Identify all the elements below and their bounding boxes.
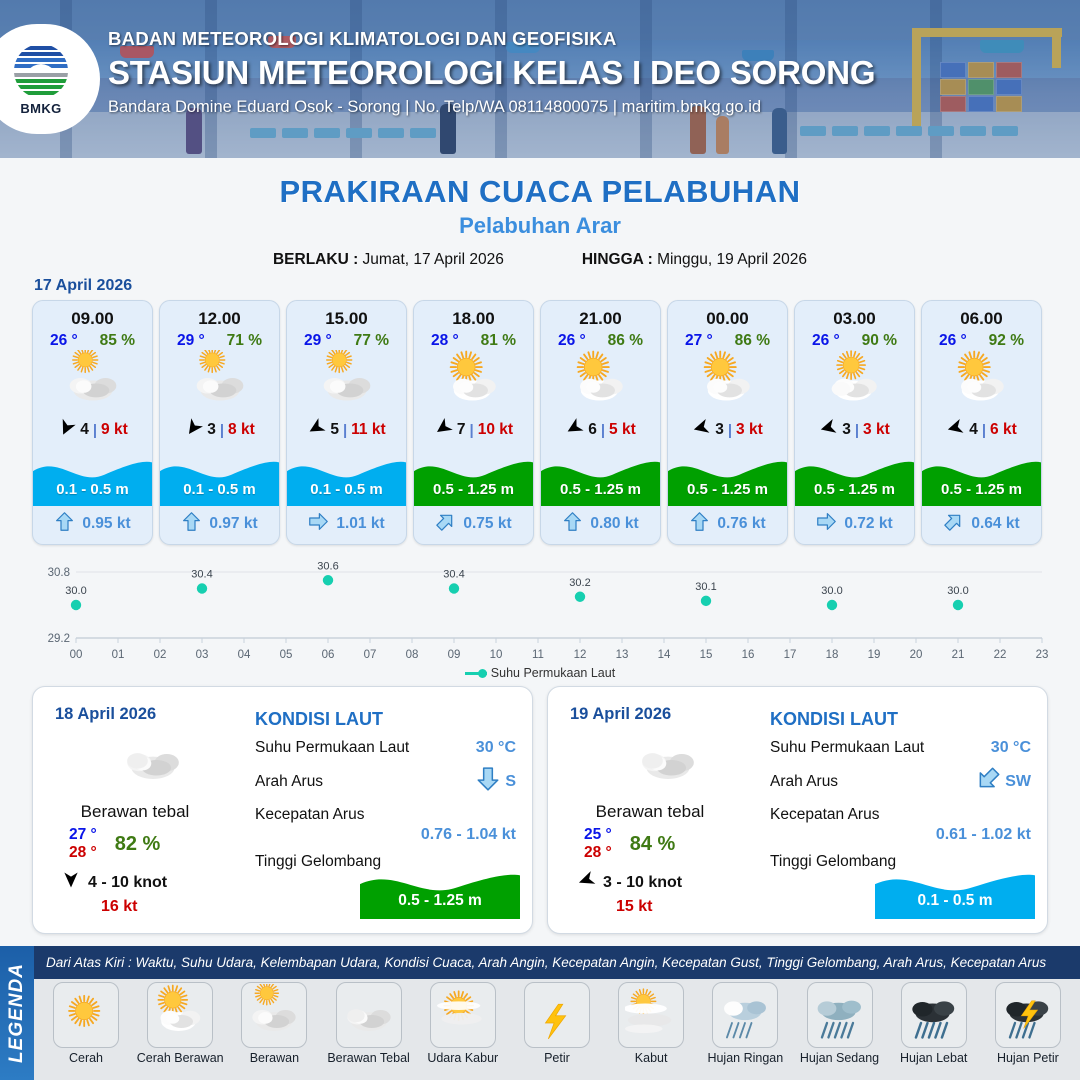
card-values: 27 ° 86 % [668, 332, 787, 350]
card-temperature: 27 ° [685, 332, 713, 350]
panel-current-speed-row: Kecepatan Arus [255, 806, 516, 824]
card-humidity: 77 % [354, 332, 389, 350]
forecast-card-row: 09.00 26 ° 85 % 4 | 9 kt 0.1 - 0.5 m 0.9… [32, 300, 1048, 545]
card-wave-height: 0.1 - 0.5 m [33, 481, 152, 498]
card-wave-height: 0.5 - 1.25 m [795, 481, 914, 498]
card-wave-band: 0.5 - 1.25 m [795, 454, 914, 506]
hingga-group: HINGGA : Minggu, 19 April 2026 [582, 251, 807, 269]
card-values: 28 ° 81 % [414, 332, 533, 350]
svg-text:09: 09 [448, 649, 461, 661]
legend-item-label: Hujan Lebat [900, 1051, 967, 1065]
sst-legend-line-icon [465, 672, 487, 675]
panel-current-dir-group: S [475, 766, 516, 797]
svg-text:30.0: 30.0 [947, 585, 968, 597]
current-direction-arrow-icon [435, 511, 456, 537]
svg-text:00: 00 [70, 649, 83, 661]
card-separator: | [728, 422, 732, 439]
panel-right: KONDISI LAUT Suhu Permukaan Laut 30 °C A… [766, 687, 1047, 933]
svg-text:05: 05 [280, 649, 293, 661]
card-separator: | [601, 422, 605, 439]
card-wave-band: 0.5 - 1.25 m [414, 454, 533, 506]
card-values: 26 ° 85 % [33, 332, 152, 350]
card-time: 12.00 [160, 309, 279, 329]
forecast-card: 18.00 28 ° 81 % 7 | 10 kt 0.5 - 1.25 m 0… [413, 300, 534, 545]
card-current-row: 0.80 kt [541, 508, 660, 540]
card-time: 15.00 [287, 309, 406, 329]
legend-note-bar: Dari Atas Kiri : Waktu, Suhu Udara, Kele… [34, 946, 1080, 979]
card-gust: 10 kt [478, 421, 513, 439]
station-contact: Bandara Domine Eduard Osok - Sorong | No… [108, 98, 875, 117]
card-wind-speed: 7 [457, 421, 466, 439]
card-values: 29 ° 71 % [160, 332, 279, 350]
legend-udara-kabur-icon [430, 982, 496, 1048]
card-humidity: 86 % [735, 332, 770, 350]
panel-wind-range: 3 - 10 knot [603, 874, 682, 892]
card-temperature: 28 ° [431, 332, 459, 350]
card-gust: 8 kt [228, 421, 255, 439]
forecast-card: 00.00 27 ° 86 % 3 | 3 kt 0.5 - 1.25 m 0.… [667, 300, 788, 545]
panel-current-dir-value: S [505, 773, 516, 791]
card-values: 26 ° 90 % [795, 332, 914, 350]
legend-hujan-lebat-icon [901, 982, 967, 1048]
panel-left: 19 April 2026 Berawan tebal 25 ° 28 ° 84… [548, 687, 766, 933]
berlaku-label: BERLAKU : [273, 251, 358, 268]
panel-temp-col: 27 ° 28 ° [69, 826, 97, 862]
card-humidity: 85 % [100, 332, 135, 350]
sst-chart-legend: Suhu Permukaan Laut [0, 666, 1080, 680]
panel-sst-value: 30 °C [991, 739, 1031, 757]
card-temperature: 26 ° [812, 332, 840, 350]
panel-sst-row: Suhu Permukaan Laut 30 °C [255, 739, 516, 757]
card-humidity: 86 % [608, 332, 643, 350]
card-wind-row: 3 | 8 kt [160, 419, 279, 441]
legend-hujan-sedang-icon [807, 982, 873, 1048]
panel-wave-value: 0.1 - 0.5 m [875, 892, 1035, 910]
card-wind-row: 5 | 11 kt [287, 419, 406, 441]
forecast-card: 21.00 26 ° 86 % 6 | 5 kt 0.5 - 1.25 m 0.… [540, 300, 661, 545]
hingga-label: HINGGA : [582, 251, 653, 268]
card-temperature: 26 ° [50, 332, 78, 350]
svg-text:30.6: 30.6 [317, 560, 338, 572]
legend-item-label: Kabut [635, 1051, 668, 1065]
panel-wind-row: 4 - 10 knot [55, 870, 251, 895]
wind-direction-arrow-icon [184, 418, 203, 442]
card-weather-cerah-berawan-icon [668, 352, 787, 414]
page-subtitle: Pelabuhan Arar [0, 213, 1080, 239]
card-time: 00.00 [668, 309, 787, 329]
card-current-speed: 0.80 kt [590, 515, 638, 533]
panel-weather-berawan-tebal-icon [570, 728, 766, 792]
card-wave-band: 0.5 - 1.25 m [668, 454, 787, 506]
card-current-speed: 0.95 kt [82, 515, 130, 533]
svg-text:06: 06 [322, 649, 335, 661]
legend-cerah-icon [53, 982, 119, 1048]
card-wind-row: 4 | 9 kt [33, 419, 152, 441]
current-direction-arrow-icon [562, 511, 583, 537]
card-weather-cerah-berawan-icon [541, 352, 660, 414]
wind-direction-arrow-icon [61, 870, 81, 895]
card-humidity: 92 % [989, 332, 1024, 350]
svg-text:30.1: 30.1 [695, 581, 716, 593]
svg-text:14: 14 [658, 649, 671, 661]
card-values: 26 ° 92 % [922, 332, 1041, 350]
legend-petir-icon [524, 982, 590, 1048]
title-block: PRAKIRAAN CUACA PELABUHAN Pelabuhan Arar… [0, 174, 1080, 269]
svg-text:29.2: 29.2 [48, 633, 70, 645]
panel-current-dir-value: SW [1005, 773, 1031, 791]
panel-temp-min: 25 ° [584, 826, 612, 844]
wind-direction-arrow-icon [576, 870, 596, 895]
sst-chart: 30.829.200010203040506070809101112131415… [28, 558, 1052, 683]
svg-text:20: 20 [910, 649, 923, 661]
card-time: 18.00 [414, 309, 533, 329]
legend-item: Hujan Ringan [699, 982, 791, 1078]
svg-text:30.4: 30.4 [443, 569, 464, 581]
panel-sst-label: Suhu Permukaan Laut [255, 739, 409, 757]
legend-item: Petir [511, 982, 603, 1078]
panel-condition: Berawan tebal [55, 802, 215, 822]
svg-text:01: 01 [112, 649, 125, 661]
card-humidity: 71 % [227, 332, 262, 350]
panel-current-dir-group: SW [975, 766, 1031, 797]
legend-item: Cerah Berawan [134, 982, 226, 1078]
svg-text:19: 19 [868, 649, 881, 661]
legend-item-label: Hujan Sedang [800, 1051, 879, 1065]
card-weather-cerah-berawan-icon [414, 352, 533, 414]
legend-item-label: Udara Kabur [427, 1051, 498, 1065]
legend-item-label: Hujan Ringan [707, 1051, 783, 1065]
legend-cerah-berawan-icon [147, 982, 213, 1048]
svg-text:02: 02 [154, 649, 167, 661]
card-weather-berawan-icon [160, 352, 279, 414]
card-wind-row: 3 | 3 kt [795, 419, 914, 441]
bmkg-logo-text: BMKG [20, 101, 61, 116]
panel-wave-band: 0.1 - 0.5 m [875, 863, 1035, 919]
svg-text:30.8: 30.8 [48, 567, 70, 579]
card-humidity: 81 % [481, 332, 516, 350]
legend-side-label: LEGENDA [6, 963, 28, 1063]
current-direction-arrow-icon [54, 511, 75, 537]
card-wave-height: 0.5 - 1.25 m [541, 481, 660, 498]
panel-temp-max: 28 ° [69, 844, 97, 862]
card-wave-height: 0.1 - 0.5 m [287, 481, 406, 498]
card-humidity: 90 % [862, 332, 897, 350]
svg-text:12: 12 [574, 649, 587, 661]
card-gust: 11 kt [351, 421, 385, 439]
card-current-speed: 0.75 kt [463, 515, 511, 533]
card-time: 09.00 [33, 309, 152, 329]
svg-text:11: 11 [532, 649, 544, 661]
forecast-card: 03.00 26 ° 90 % 3 | 3 kt 0.5 - 1.25 m 0.… [794, 300, 915, 545]
bmkg-logo-mark-icon [9, 43, 73, 99]
panel-temp-row: 27 ° 28 ° 82 % [55, 826, 251, 862]
card-gust: 3 kt [863, 421, 890, 439]
svg-text:22: 22 [994, 649, 1007, 661]
card-wind-row: 3 | 3 kt [668, 419, 787, 441]
card-wind-speed: 4 [80, 421, 89, 439]
card-wave-height: 0.1 - 0.5 m [160, 481, 279, 498]
card-time: 03.00 [795, 309, 914, 329]
svg-text:13: 13 [616, 649, 629, 661]
svg-text:18: 18 [826, 649, 839, 661]
legend-item: Cerah [40, 982, 132, 1078]
legend-item-label: Cerah [69, 1051, 103, 1065]
panel-wave-band: 0.5 - 1.25 m [360, 863, 520, 919]
berlaku-group: BERLAKU : Jumat, 17 April 2026 [273, 251, 504, 269]
card-separator: | [982, 422, 986, 439]
daily-panels-row: 18 April 2026 Berawan tebal 27 ° 28 ° 82… [32, 686, 1048, 934]
card-wave-band: 0.1 - 0.5 m [33, 454, 152, 506]
card-current-speed: 0.97 kt [209, 515, 257, 533]
svg-text:03: 03 [196, 649, 209, 661]
legend-side-tab: LEGENDA [0, 946, 34, 1080]
svg-text:04: 04 [238, 649, 251, 661]
forecast-card: 12.00 29 ° 71 % 3 | 8 kt 0.1 - 0.5 m 0.9… [159, 300, 280, 545]
card-wind-speed: 3 [207, 421, 216, 439]
card-wind-speed: 3 [842, 421, 851, 439]
panel-current-dir-row: Arah Arus S [255, 766, 516, 797]
card-temperature: 26 ° [939, 332, 967, 350]
card-gust: 5 kt [609, 421, 636, 439]
wind-direction-arrow-icon [307, 418, 326, 442]
card-time: 06.00 [922, 309, 1041, 329]
legend-berawan-icon [241, 982, 307, 1048]
legend-item: Hujan Lebat [888, 982, 980, 1078]
forecast-card: 09.00 26 ° 85 % 4 | 9 kt 0.1 - 0.5 m 0.9… [32, 300, 153, 545]
panel-sea-title: KONDISI LAUT [770, 709, 1031, 730]
panel-humidity: 82 % [115, 833, 161, 856]
panel-current-dir-label: Arah Arus [255, 773, 323, 791]
daily-forecast-panel: 18 April 2026 Berawan tebal 27 ° 28 ° 82… [32, 686, 533, 934]
card-separator: | [220, 422, 224, 439]
panel-current-speed-label: Kecepatan Arus [255, 806, 364, 824]
current-direction-arrow-icon [816, 511, 837, 537]
forecast-day-label: 17 April 2026 [34, 277, 132, 295]
card-current-speed: 0.76 kt [717, 515, 765, 533]
card-current-row: 1.01 kt [287, 508, 406, 540]
wind-direction-arrow-icon [819, 418, 838, 442]
svg-text:30.0: 30.0 [821, 585, 842, 597]
svg-text:23: 23 [1036, 649, 1049, 661]
svg-text:30.2: 30.2 [569, 577, 590, 589]
legend-hujan-ringan-icon [712, 982, 778, 1048]
panel-temp-col: 25 ° 28 ° [584, 826, 612, 862]
legend-item: Hujan Petir [982, 982, 1074, 1078]
page-header: BMKG BADAN METEOROLOGI KLIMATOLOGI DAN G… [0, 0, 1080, 158]
panel-current-speed-value: 0.76 - 1.04 kt [255, 826, 516, 844]
panel-condition: Berawan tebal [570, 802, 730, 822]
panel-sea-title: KONDISI LAUT [255, 709, 516, 730]
card-current-row: 0.64 kt [922, 508, 1041, 540]
panel-wind-range: 4 - 10 knot [88, 874, 167, 892]
panel-current-dir-row: Arah Arus SW [770, 766, 1031, 797]
card-temperature: 29 ° [177, 332, 205, 350]
legend-item: Udara Kabur [417, 982, 509, 1078]
wind-direction-arrow-icon [434, 418, 453, 442]
panel-sst-value: 30 °C [476, 739, 516, 757]
card-wave-band: 0.1 - 0.5 m [160, 454, 279, 506]
card-weather-berawan-icon [287, 352, 406, 414]
wind-direction-arrow-icon [57, 418, 76, 442]
card-current-row: 0.97 kt [160, 508, 279, 540]
svg-text:17: 17 [784, 649, 797, 661]
legend-item: Berawan [228, 982, 320, 1078]
svg-text:10: 10 [490, 649, 503, 661]
card-separator: | [855, 422, 859, 439]
legend-item-label: Cerah Berawan [137, 1051, 224, 1065]
current-direction-arrow-icon [181, 511, 202, 537]
wind-direction-arrow-icon [946, 418, 965, 442]
card-wind-row: 7 | 10 kt [414, 419, 533, 441]
panel-temp-max: 28 ° [584, 844, 612, 862]
legend-hujan-petir-icon [995, 982, 1061, 1048]
card-temperature: 26 ° [558, 332, 586, 350]
wind-direction-arrow-icon [565, 418, 584, 442]
card-separator: | [93, 422, 97, 439]
current-direction-arrow-icon [689, 511, 710, 537]
card-current-speed: 0.72 kt [844, 515, 892, 533]
card-temperature: 29 ° [304, 332, 332, 350]
card-values: 29 ° 77 % [287, 332, 406, 350]
legend-item-label: Petir [544, 1051, 570, 1065]
current-direction-arrow-icon [943, 511, 964, 537]
validity-row: BERLAKU : Jumat, 17 April 2026 HINGGA : … [0, 251, 1080, 269]
card-wave-band: 0.5 - 1.25 m [541, 454, 660, 506]
panel-date: 19 April 2026 [570, 705, 766, 724]
card-wind-row: 6 | 5 kt [541, 419, 660, 441]
card-weather-berawan-cerah-icon [795, 352, 914, 414]
card-values: 26 ° 86 % [541, 332, 660, 350]
header-text-block: BADAN METEOROLOGI KLIMATOLOGI DAN GEOFIS… [108, 28, 875, 117]
card-weather-cerah-berawan-icon [922, 352, 1041, 414]
card-gust: 9 kt [101, 421, 128, 439]
panel-sst-row: Suhu Permukaan Laut 30 °C [770, 739, 1031, 757]
svg-text:15: 15 [700, 649, 713, 661]
card-gust: 3 kt [736, 421, 763, 439]
panel-wave-value: 0.5 - 1.25 m [360, 892, 520, 910]
legend-section: LEGENDA Dari Atas Kiri : Waktu, Suhu Uda… [0, 946, 1080, 1080]
svg-text:07: 07 [364, 649, 377, 661]
agency-name: BADAN METEOROLOGI KLIMATOLOGI DAN GEOFIS… [108, 28, 875, 50]
current-direction-arrow-icon [475, 766, 501, 797]
panel-left: 18 April 2026 Berawan tebal 27 ° 28 ° 82… [33, 687, 251, 933]
forecast-card: 06.00 26 ° 92 % 4 | 6 kt 0.5 - 1.25 m 0.… [921, 300, 1042, 545]
card-weather-berawan-icon [33, 352, 152, 414]
card-current-row: 0.95 kt [33, 508, 152, 540]
card-separator: | [470, 422, 474, 439]
card-wave-height: 0.5 - 1.25 m [414, 481, 533, 498]
card-time: 21.00 [541, 309, 660, 329]
svg-text:08: 08 [406, 649, 419, 661]
panel-gust: 15 kt [570, 898, 766, 916]
legend-item-label: Berawan [250, 1051, 299, 1065]
svg-text:30.0: 30.0 [65, 585, 86, 597]
card-wind-speed: 5 [330, 421, 339, 439]
legend-items-row: Cerah Cerah Berawan Berawan Berawan Teba… [34, 982, 1080, 1078]
card-wind-speed: 4 [969, 421, 978, 439]
hingga-value: Minggu, 19 April 2026 [657, 251, 807, 268]
card-current-row: 0.75 kt [414, 508, 533, 540]
card-separator: | [343, 422, 347, 439]
card-current-speed: 1.01 kt [336, 515, 384, 533]
daily-forecast-panel: 19 April 2026 Berawan tebal 25 ° 28 ° 84… [547, 686, 1048, 934]
panel-humidity: 84 % [630, 833, 676, 856]
legend-item-label: Hujan Petir [997, 1051, 1059, 1065]
panel-date: 18 April 2026 [55, 705, 251, 724]
current-direction-arrow-icon [308, 511, 329, 537]
legend-berawan-tebal-icon [336, 982, 402, 1048]
panel-right: KONDISI LAUT Suhu Permukaan Laut 30 °C A… [251, 687, 532, 933]
panel-current-dir-label: Arah Arus [770, 773, 838, 791]
card-gust: 6 kt [990, 421, 1017, 439]
svg-text:16: 16 [742, 649, 755, 661]
berlaku-value: Jumat, 17 April 2026 [363, 251, 504, 268]
card-wind-row: 4 | 6 kt [922, 419, 1041, 441]
panel-gust: 16 kt [55, 898, 251, 916]
panel-temp-min: 27 ° [69, 826, 97, 844]
card-current-row: 0.76 kt [668, 508, 787, 540]
panel-temp-row: 25 ° 28 ° 84 % [570, 826, 766, 862]
card-wave-band: 0.5 - 1.25 m [922, 454, 1041, 506]
panel-current-speed-row: Kecepatan Arus [770, 806, 1031, 824]
card-current-speed: 0.64 kt [971, 515, 1019, 533]
card-wave-band: 0.1 - 0.5 m [287, 454, 406, 506]
svg-text:21: 21 [952, 649, 965, 661]
legend-item: Hujan Sedang [794, 982, 886, 1078]
sst-legend-label: Suhu Permukaan Laut [491, 666, 615, 680]
panel-sst-label: Suhu Permukaan Laut [770, 739, 924, 757]
panel-current-speed-value: 0.61 - 1.02 kt [770, 826, 1031, 844]
card-wind-speed: 6 [588, 421, 597, 439]
svg-text:30.4: 30.4 [191, 569, 212, 581]
legend-item: Kabut [605, 982, 697, 1078]
panel-wind-row: 3 - 10 knot [570, 870, 766, 895]
card-wave-height: 0.5 - 1.25 m [668, 481, 787, 498]
legend-item: Berawan Tebal [323, 982, 415, 1078]
station-name: STASIUN METEOROLOGI KELAS I DEO SORONG [108, 54, 875, 92]
card-wave-height: 0.5 - 1.25 m [922, 481, 1041, 498]
current-direction-arrow-icon [975, 766, 1001, 797]
panel-weather-berawan-tebal-icon [55, 728, 251, 792]
card-current-row: 0.72 kt [795, 508, 914, 540]
legend-note: Dari Atas Kiri : Waktu, Suhu Udara, Kele… [46, 955, 1046, 970]
page-title: PRAKIRAAN CUACA PELABUHAN [0, 174, 1080, 210]
forecast-card: 15.00 29 ° 77 % 5 | 11 kt 0.1 - 0.5 m 1.… [286, 300, 407, 545]
legend-item-label: Berawan Tebal [327, 1051, 409, 1065]
card-wind-speed: 3 [715, 421, 724, 439]
panel-current-speed-label: Kecepatan Arus [770, 806, 879, 824]
wind-direction-arrow-icon [692, 418, 711, 442]
legend-kabut-icon [618, 982, 684, 1048]
